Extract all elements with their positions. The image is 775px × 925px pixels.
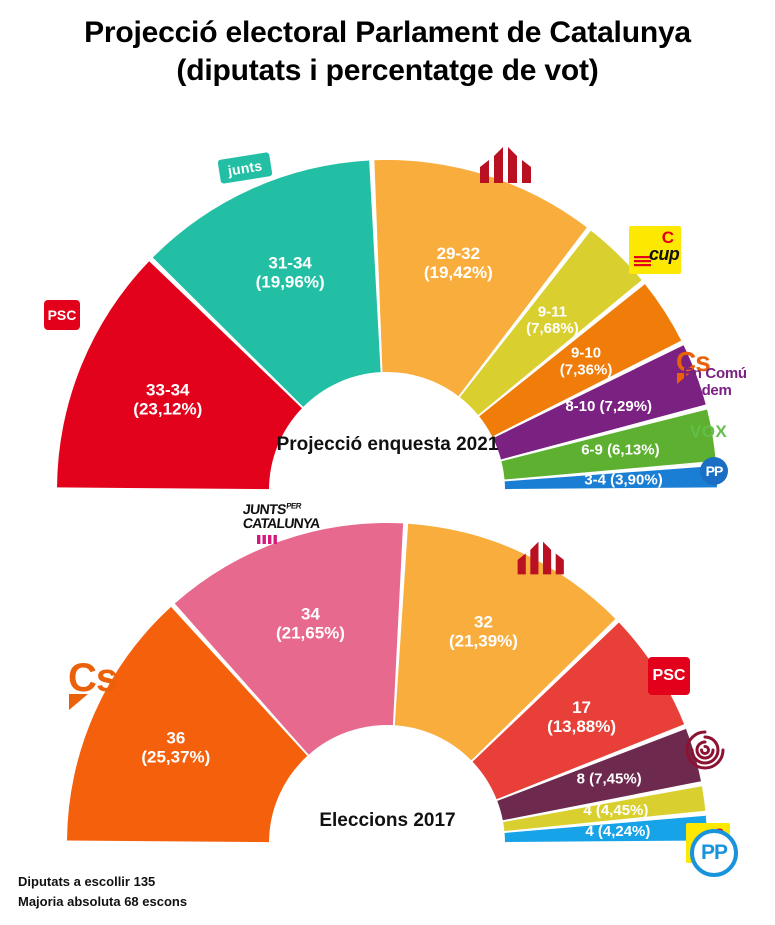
pp-logo: PP <box>700 457 728 485</box>
footer-line-2: Majoria absoluta 68 escons <box>18 892 187 912</box>
page-title: Projecció electoral Parlament de Catalun… <box>0 14 775 91</box>
chart-caption-top: Projecció enquesta 2021 <box>0 434 775 456</box>
vox-logo: VOX <box>690 422 727 442</box>
segment-label: 8 (7,45%) <box>577 770 642 787</box>
catecp-spiral-logo <box>682 727 728 773</box>
footer-line-1: Diputats a escollir 135 <box>18 872 187 892</box>
title-line-2: (diputats i percentatge de vot) <box>0 52 775 90</box>
chart-projection-2021: 33-34(23,12%)31-34(19,96%)29-32(19,42%)9… <box>0 128 775 503</box>
segment-label: 8-10 (7,29%) <box>565 398 652 415</box>
chart-elections-2017: 36(25,37%)34(21,65%)32(21,39%)17(13,88%)… <box>0 498 775 870</box>
pp-logo-2017: PP <box>690 829 738 877</box>
footer-note: Diputats a escollir 135 Majoria absoluta… <box>18 872 187 911</box>
erc-logo <box>476 145 540 185</box>
jxcat-bars-icon <box>257 535 283 544</box>
en-comu-podem-logo: En Comú Podem <box>683 366 747 400</box>
junts-per-catalunya-logo: JUNTSPER CATALUNYA <box>243 502 321 549</box>
cs-triangle-icon <box>69 694 88 710</box>
erc-logo-2017 <box>514 539 572 577</box>
title-line-1: Projecció electoral Parlament de Catalun… <box>0 14 775 52</box>
cup-wordmark: cup <box>649 244 679 265</box>
cup-logo: C cup <box>629 226 681 274</box>
chart-caption-bottom: Eleccions 2017 <box>0 810 775 832</box>
psc-logo: PSC <box>44 300 80 330</box>
segment-label: 3-4 (3,90%) <box>584 471 662 488</box>
psc-logo-2017: PSC <box>648 657 690 695</box>
